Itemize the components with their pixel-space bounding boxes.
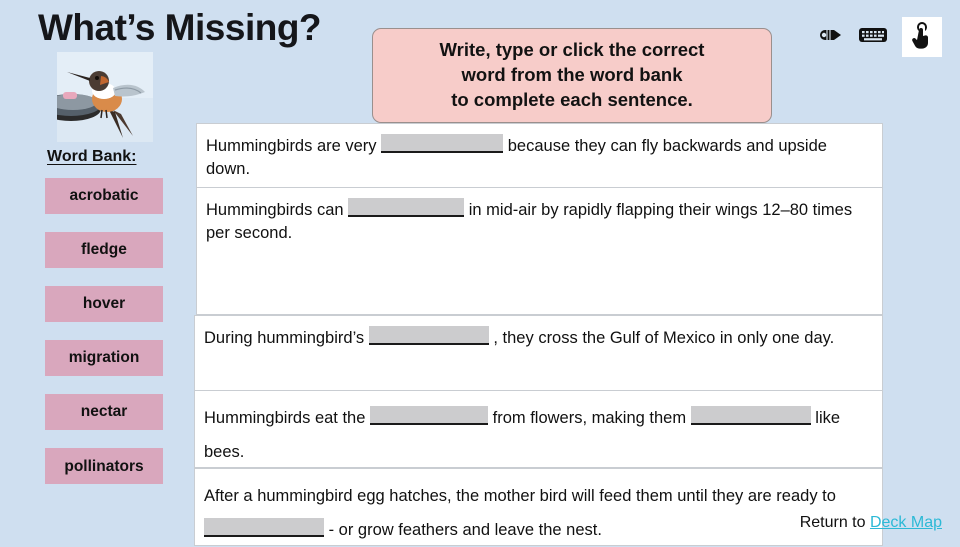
pointer-hand-icon: [906, 19, 938, 56]
sentence-3-blank[interactable]: [369, 326, 489, 345]
word-bank-list: acrobatic fledge hover migration nectar …: [45, 178, 163, 502]
sentence-card-4: Hummingbirds eat the from flowers, makin…: [194, 391, 883, 468]
word-bank-item-nectar[interactable]: nectar: [45, 394, 163, 430]
deck-map-link[interactable]: Deck Map: [870, 514, 942, 531]
sentence-4-blank-1[interactable]: [370, 406, 488, 425]
keyboard-icon: [858, 25, 888, 50]
word-bank-item-acrobatic[interactable]: acrobatic: [45, 178, 163, 214]
pencil-tool-button[interactable]: [818, 25, 844, 50]
instruction-line-2: word from the word bank: [379, 62, 765, 87]
sentence-3-text-a: During hummingbird’s: [204, 329, 364, 347]
pencil-icon: [818, 25, 844, 50]
sentence-5-text-b: - or grow feathers and leave the nest.: [329, 521, 602, 539]
sentence-5-blank[interactable]: [204, 518, 324, 537]
sentence-1-text-a: Hummingbirds are very: [206, 137, 377, 155]
word-bank-item-fledge[interactable]: fledge: [45, 232, 163, 268]
instruction-line-3: to complete each sentence.: [379, 87, 765, 112]
page-title: What’s Missing?: [38, 7, 321, 49]
hummingbird-image: [57, 52, 153, 142]
word-bank-item-hover[interactable]: hover: [45, 286, 163, 322]
sentence-3-text-b: , they cross the Gulf of Mexico in only …: [493, 329, 834, 347]
sentence-2-blank[interactable]: [348, 198, 464, 217]
toolbar: [818, 17, 942, 57]
footer-prefix: Return to: [800, 514, 866, 531]
sentence-panel: Hummingbirds are very because they can f…: [196, 123, 883, 523]
sentence-2-text-a: Hummingbirds can: [206, 201, 344, 219]
sentence-card-5: After a hummingbird egg hatches, the mot…: [194, 468, 883, 546]
instruction-callout: Write, type or click the correct word fr…: [372, 28, 772, 123]
word-bank-item-pollinators[interactable]: pollinators: [45, 448, 163, 484]
sentence-card-1: Hummingbirds are very because they can f…: [196, 123, 883, 188]
sentence-4-blank-2[interactable]: [691, 406, 811, 425]
sentence-5-text-a: After a hummingbird egg hatches, the mot…: [204, 487, 836, 505]
sentence-4-text-b: from flowers, making them: [493, 409, 686, 427]
sentence-card-2: Hummingbirds can in mid-air by rapidly f…: [196, 188, 883, 315]
pointer-hand-tool-button[interactable]: [902, 17, 942, 57]
sentence-card-3: During hummingbird’s , they cross the Gu…: [194, 315, 883, 391]
word-bank-heading: Word Bank:: [47, 148, 136, 166]
keyboard-tool-button[interactable]: [858, 25, 888, 50]
instruction-line-1: Write, type or click the correct: [379, 37, 765, 62]
sentence-1-blank[interactable]: [381, 134, 503, 153]
footer: Return to Deck Map: [800, 514, 942, 532]
sentence-4-text-a: Hummingbirds eat the: [204, 409, 365, 427]
word-bank-item-migration[interactable]: migration: [45, 340, 163, 376]
